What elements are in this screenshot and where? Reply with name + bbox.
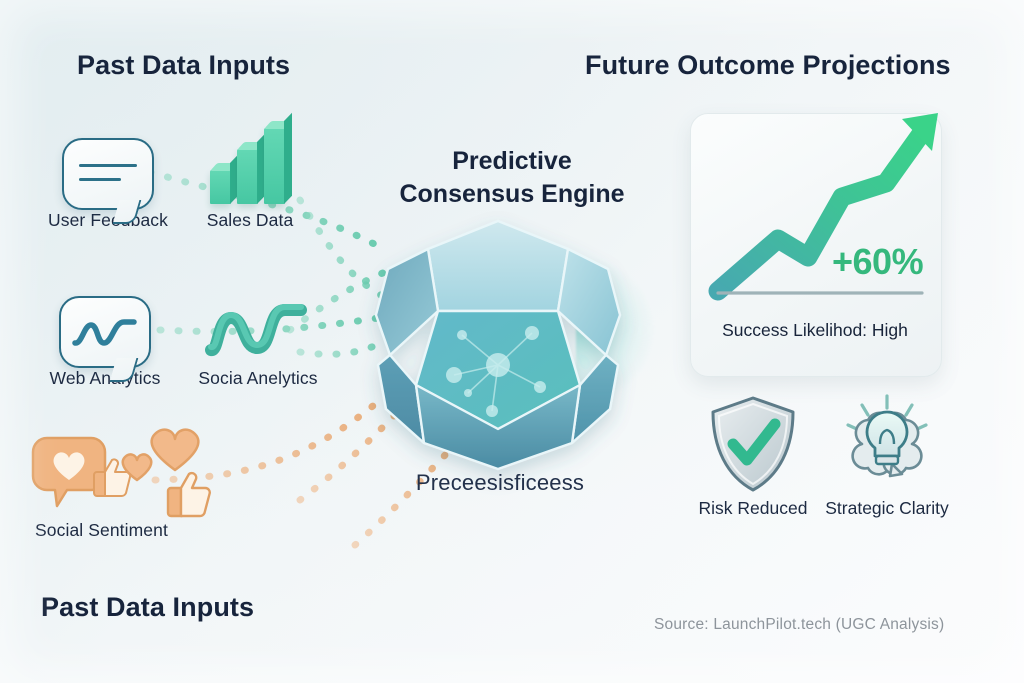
outcome-risk-reduced[interactable]: Risk Reduced: [678, 392, 828, 520]
input-label: Sales Data: [185, 210, 315, 231]
speech-bubble-trend-icon: [25, 276, 185, 368]
input-node-user-feedback[interactable]: User Feedback: [33, 118, 183, 231]
squiggle-wave-icon: [178, 276, 338, 368]
input-node-sales-data[interactable]: Sales Data: [185, 118, 315, 231]
page-title-right: Future Outcome Projections: [585, 50, 951, 81]
heart-thumbsup-cluster-icon: [25, 428, 225, 520]
input-label: User Feedback: [33, 210, 183, 231]
engine-title-line2: Consensus Engine: [378, 178, 646, 211]
engine-title: Predictive Consensus Engine: [378, 145, 646, 211]
input-node-social-analytics[interactable]: Socia Anelytics: [178, 276, 338, 389]
dodecahedron-network-icon: [372, 215, 624, 473]
outcome-strategic-clarity[interactable]: Strategic Clarity: [812, 392, 962, 520]
input-node-social-sentiment[interactable]: Social Sentiment: [25, 428, 225, 541]
page-title-bottom: Past Data Inputs: [41, 592, 254, 623]
input-node-web-analytics[interactable]: Web Analytics: [25, 276, 185, 389]
engine-title-line1: Predictive: [378, 145, 646, 178]
bar-chart-3d-icon: [185, 118, 315, 210]
page-title-left: Past Data Inputs: [77, 50, 290, 81]
lightbulb-brain-icon: [812, 392, 962, 496]
shield-check-icon: [678, 392, 828, 496]
speech-bubble-text-icon: [33, 118, 183, 210]
projection-caption: Success Likelihod: High: [690, 320, 940, 341]
outcome-label: Strategic Clarity: [812, 496, 962, 520]
input-label: Web Analytics: [25, 368, 185, 389]
input-label: Social Sentiment: [25, 520, 225, 541]
infographic-canvas: Past Data Inputs Future Outcome Projecti…: [0, 0, 1024, 683]
engine-subtitle: Preceesisficeess: [370, 470, 630, 496]
source-attribution: Source: LaunchPilot.tech (UGC Analysis): [654, 616, 944, 634]
projection-metric: +60%: [832, 241, 923, 283]
input-label: Socia Anelytics: [178, 368, 338, 389]
outcome-label: Risk Reduced: [678, 496, 828, 520]
